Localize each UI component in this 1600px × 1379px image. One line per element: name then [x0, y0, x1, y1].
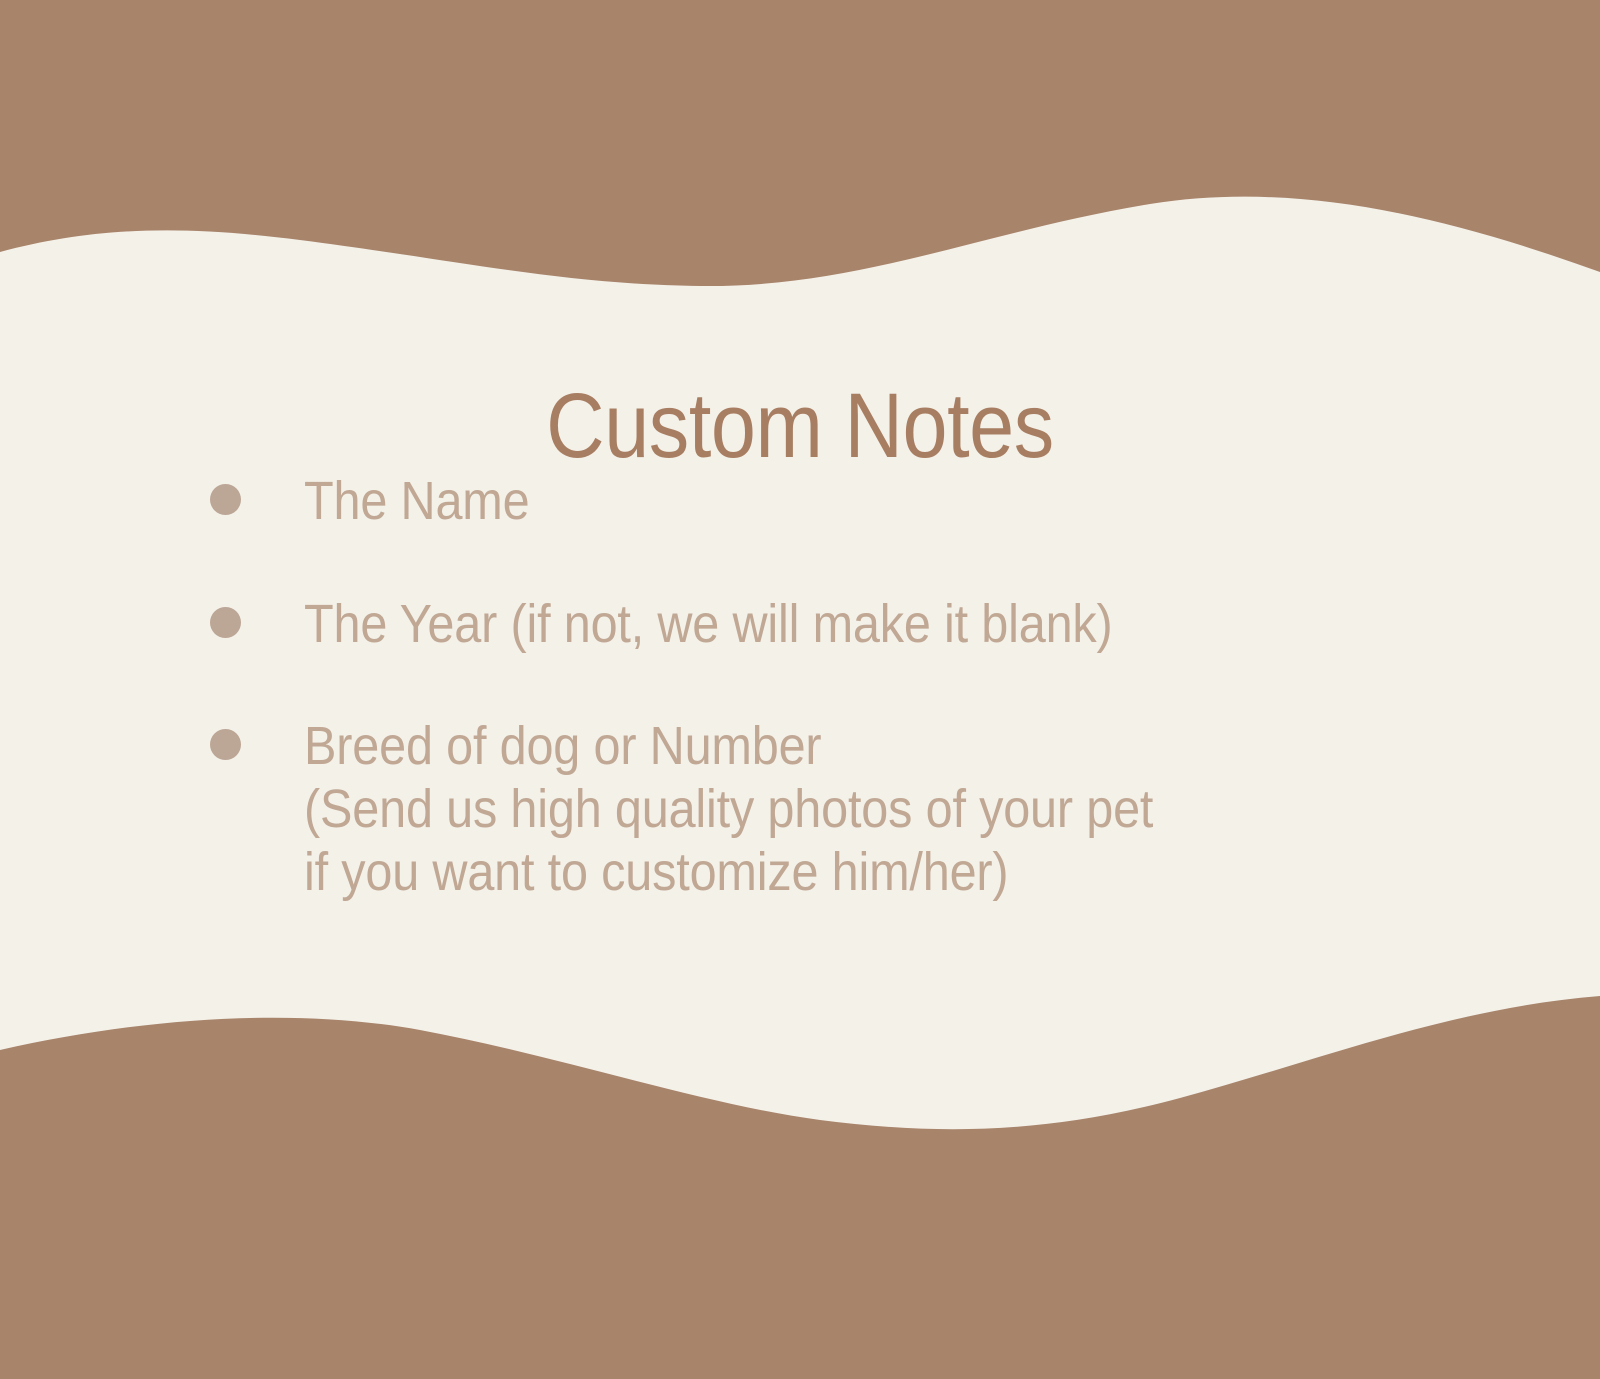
- custom-notes-list: The Name The Year (if not, we will make …: [210, 470, 1510, 903]
- page-title: Custom Notes: [96, 380, 1504, 472]
- bullet-dot-icon: [210, 729, 241, 760]
- note-text: The Name: [304, 470, 1389, 533]
- slide-canvas: Custom Notes The Name The Year (if not, …: [0, 0, 1600, 1379]
- note-text: The Year (if not, we will make it blank): [304, 593, 1389, 656]
- list-item: The Name: [210, 470, 1510, 533]
- bullet-dot-icon: [210, 607, 241, 638]
- list-item: The Year (if not, we will make it blank): [210, 593, 1510, 656]
- bullet-dot-icon: [210, 484, 241, 515]
- note-text: Breed of dog or Number (Send us high qua…: [304, 715, 1389, 903]
- list-item: Breed of dog or Number (Send us high qua…: [210, 715, 1510, 903]
